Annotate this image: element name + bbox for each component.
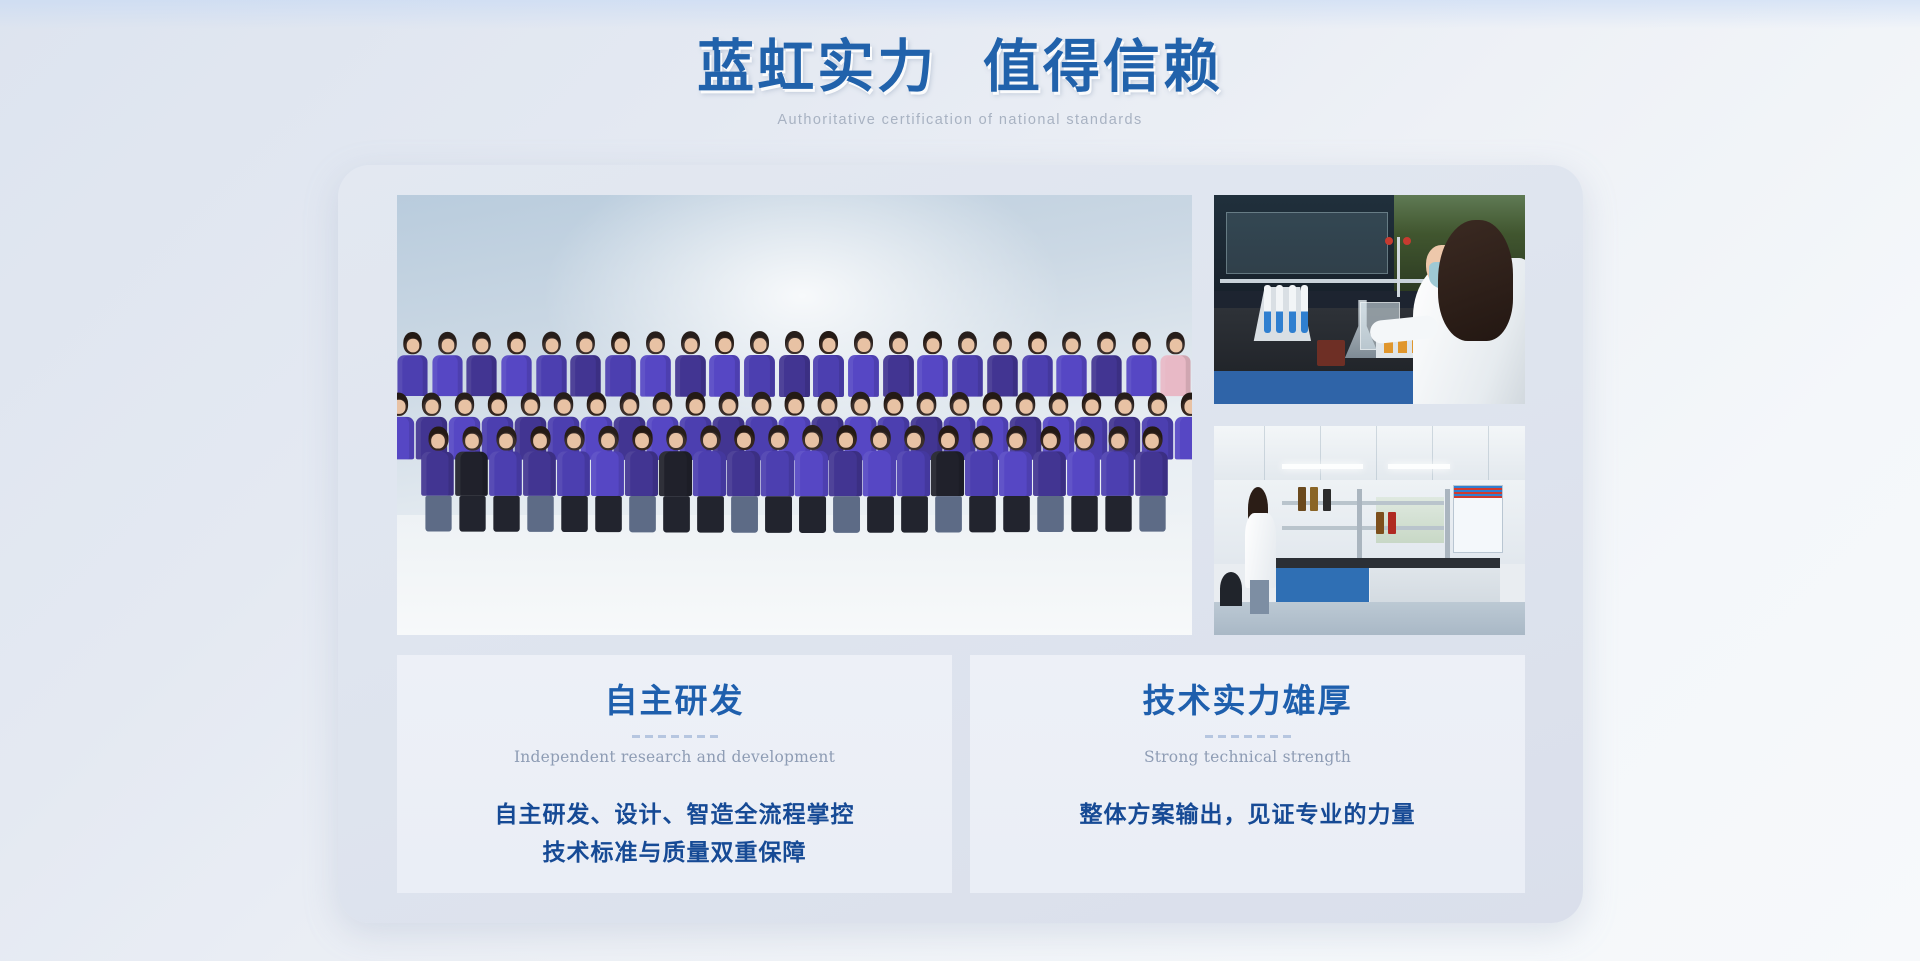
technician-lab-coat [1245,513,1276,588]
media-gallery [397,195,1525,635]
person-torso [455,452,488,496]
person-head [577,332,596,355]
person-face [975,433,989,448]
person [421,427,455,532]
person-legs [934,496,961,532]
person-face [545,339,558,353]
person-legs [1138,496,1164,532]
person-head [1005,426,1025,450]
person-face [684,338,697,352]
person-torso [760,451,793,496]
person-face [656,399,669,413]
person-head [631,426,651,451]
person-head [889,331,908,354]
person-head [563,426,583,450]
lab-glass-panel [1226,212,1388,275]
reagent-bottle [1323,489,1331,511]
person-face [567,433,581,448]
card-body-line: 整体方案输出，见证专业的力量 [1080,796,1416,834]
person-head [854,331,873,354]
people-row-front [397,429,1192,529]
person [1101,426,1135,532]
person-torso [998,451,1031,496]
person-torso [397,355,427,396]
person [1033,426,1067,532]
person-legs [560,496,587,532]
person-head [820,331,839,354]
person-head [716,331,735,354]
person-head [1098,332,1117,354]
person-head [529,426,549,450]
person-torso [571,355,601,396]
person-face [615,338,628,352]
person-head [1115,392,1134,415]
person [467,332,498,396]
card-english-subtitle: Strong technical strength [1144,748,1351,766]
pipette-icon [1289,285,1296,333]
person-legs [628,496,655,532]
dashed-divider [1205,735,1291,738]
person-legs [832,496,859,533]
person-face [788,399,802,414]
person-head [801,425,822,450]
person [571,332,602,397]
person-face [703,433,717,448]
person-face [854,399,867,414]
person-torso [964,451,997,496]
lab-technician [1245,485,1276,615]
person-head [785,331,804,354]
person-face [397,400,405,414]
person-legs [492,496,518,532]
person-face [737,433,751,448]
person-torso [1161,355,1191,396]
pipette-icon [1276,285,1283,333]
person [1091,332,1122,397]
person-head [1082,392,1101,415]
person-legs [866,496,893,533]
person-legs [424,496,450,532]
person [828,425,862,533]
person-face [1170,339,1183,353]
person [557,426,591,532]
page-subtitle: Authoritative certification of national … [0,112,1920,128]
person [998,426,1032,532]
person [794,425,829,533]
person-face [755,399,768,414]
person-face [770,433,784,448]
person-head [686,392,706,416]
person-torso [726,451,759,496]
person [489,426,523,532]
person [501,332,532,397]
person-face [1118,400,1131,414]
person-torso [896,451,929,496]
ceiling-grid-line [1432,426,1433,480]
person-head [983,392,1003,416]
person-torso [1126,355,1156,396]
person-face [1085,399,1098,413]
person-head [461,426,481,450]
person-head [884,392,904,416]
person-face [1184,400,1192,414]
person [455,426,489,531]
person-torso [952,355,983,397]
person-head [785,392,805,416]
page-header: 蓝虹实力 值得信赖 Authoritative certification of… [0,0,1920,128]
lab-bench-front [1214,371,1438,404]
person-head [1063,332,1082,355]
card-title: 技术实力雄厚 [1143,681,1353,721]
person-face [491,400,504,414]
person-legs [1036,496,1063,532]
person-torso [523,451,556,495]
person [883,331,914,397]
person-torso [744,355,775,397]
ceiling-grid-line [1320,426,1321,480]
person-face [1100,339,1113,353]
person [605,331,636,396]
poster-line [1454,492,1502,494]
person-head [917,392,937,416]
person-head [1049,392,1068,416]
person-legs [730,496,757,533]
person-torso [692,451,725,496]
reagent-bottle [1298,487,1306,511]
feature-card-technical-strength[interactable]: 技术实力雄厚 Strong technical strength 整体方案输出，… [970,655,1525,893]
person [397,332,428,396]
person-face [649,338,662,352]
person-head [699,425,719,450]
person-head [653,392,673,416]
group-people [397,297,1192,547]
person-face [1077,433,1091,448]
person-head [937,426,957,451]
person-torso [640,355,671,397]
person [536,332,567,397]
person-face [533,433,547,448]
person-head [750,331,769,354]
person-torso [1067,451,1100,495]
lab-technician-pipette-photo [1214,195,1525,404]
card-english-subtitle: Independent research and development [514,748,835,766]
person-face [753,338,766,352]
person-head [428,427,448,451]
card-body: 自主研发、设计、智造全流程掌控 技术标准与质量双重保障 [495,796,855,872]
poster-line [1454,496,1502,498]
person-torso [930,451,963,496]
person [987,331,1018,396]
person-head [455,393,474,416]
person-face [499,434,513,449]
person-head [488,392,507,415]
person-head [1141,426,1161,450]
person-head [851,392,871,416]
person [1135,426,1169,531]
person-face [804,433,818,448]
person-face [1052,399,1065,413]
person-head [767,425,787,450]
person-head [835,425,855,450]
person [432,332,463,396]
person [624,426,658,533]
person [1067,426,1101,532]
person-face [996,338,1009,352]
person-head [665,426,685,451]
person-face [635,433,649,448]
person-legs [662,496,689,532]
person-head [1016,392,1035,416]
person-face [722,399,735,413]
person-torso [1022,355,1052,396]
person [964,426,998,533]
person-head [1107,426,1127,450]
person-head [1073,426,1093,450]
person-legs [696,496,723,532]
person-head [719,392,739,416]
person-head [473,332,492,354]
person-legs [1070,496,1096,532]
person-legs [900,496,927,532]
person-face [838,433,852,448]
person-face [465,434,479,449]
person-face [941,433,955,448]
person-head [521,392,540,415]
person-face [887,399,900,413]
person-face [1009,433,1023,448]
person-torso [987,355,1018,396]
person-torso [590,451,623,496]
person-head [1028,332,1047,355]
person-torso [779,355,810,397]
person-torso [918,355,949,397]
person-face [821,399,835,414]
company-team-group-photo [397,195,1192,635]
reagent-bottle [1329,340,1345,366]
person-torso [658,451,691,496]
person-face [892,338,905,352]
person-torso [432,355,462,396]
person-head [752,392,772,416]
person [640,331,671,396]
person [813,331,845,397]
person-head [1039,426,1059,450]
person [862,425,896,532]
person-face [873,433,887,448]
person-head [1132,332,1151,354]
person-face [580,338,593,352]
content-panel: 自主研发 Independent research and developmen… [338,165,1583,923]
person-face [927,338,940,352]
person-face [425,400,438,414]
person-face [511,339,524,353]
person-head [597,426,617,450]
person-head [993,331,1012,354]
person-head [818,392,838,416]
person-face [1151,400,1164,414]
person [1022,332,1053,397]
person-head [587,392,606,416]
person-head [542,332,561,355]
person-face [1019,399,1032,413]
person-head [612,331,631,354]
person [590,426,624,532]
person [918,331,949,396]
laboratory-room-photo [1214,426,1525,635]
technician-hair [1438,220,1513,341]
person-torso [709,355,740,397]
person-face [907,433,921,448]
pipette-icon [1264,285,1271,333]
person-torso [557,451,590,496]
person-face [788,338,801,352]
person-torso [624,451,657,496]
person-torso [883,355,914,397]
person-head [404,332,422,354]
person-head [620,392,640,416]
person-torso [536,355,566,396]
person-face [1031,338,1044,352]
person-head [924,331,943,354]
person-face [689,399,702,413]
person-face [623,399,636,413]
person [709,331,740,397]
person-head [1167,332,1185,354]
person-torso [501,355,531,396]
person-torso [862,451,895,496]
side-photo-column [1214,195,1525,635]
lab-shelf-rail [1220,279,1425,283]
card-body-line: 自主研发、设计、智造全流程掌控 [495,796,855,834]
person-face [524,399,537,413]
person [896,425,930,532]
person-face [458,400,471,414]
person-torso [467,355,497,396]
person-torso [605,355,636,396]
person-torso [675,355,706,397]
person-head [1181,393,1192,416]
reagent-bottle [1310,487,1318,511]
person [692,425,726,532]
lab-ceiling [1214,426,1525,480]
person-face [669,433,683,448]
person-legs [526,496,552,532]
person [779,331,811,397]
person [523,426,557,532]
person-torso [421,452,454,496]
person-head [495,426,515,450]
person-legs [1104,496,1130,532]
ceiling-light [1282,464,1363,469]
person-legs [594,496,621,532]
person-torso [1135,452,1168,496]
person-face [719,338,732,352]
person-head [422,393,441,416]
person-head [681,331,700,354]
person-face [557,399,570,413]
person [1126,332,1157,396]
person-torso [794,451,827,496]
person-torso [1033,451,1066,496]
technician-jeans [1250,580,1269,614]
person-legs [798,496,825,533]
person-head [554,392,573,416]
person-face [962,338,975,352]
person-head [733,425,753,450]
feature-cards: 自主研发 Independent research and developmen… [397,655,1525,893]
ceiling-grid-line [1264,426,1265,480]
person [848,331,880,397]
person-face [953,399,966,413]
person-torso [848,355,879,397]
person-face [823,338,836,352]
safety-poster [1453,485,1503,554]
person-head [397,393,408,416]
person-face [986,399,999,413]
lab-retort-stand [1397,237,1400,297]
person-head [508,332,527,354]
person-face [406,339,419,353]
person [658,426,692,533]
fume-hood [1357,489,1450,564]
person-head [646,331,665,354]
lab-stool [1220,572,1242,605]
person-torso [1091,355,1121,396]
person [930,426,964,533]
person [760,425,794,533]
person-head [950,392,970,416]
person [1161,332,1192,396]
ceiling-grid-line [1376,426,1377,480]
person [726,425,760,532]
page-title: 蓝虹实力 值得信赖 [0,34,1920,100]
card-body-line: 技术标准与质量双重保障 [495,834,855,872]
person-legs [1002,496,1029,532]
ceiling-light [1388,464,1450,469]
pipette-icon [1301,285,1308,333]
person [952,331,983,396]
person-face [590,399,603,413]
person-legs [764,496,791,533]
person-face [1135,339,1148,353]
person-torso [828,451,861,496]
ceiling-grid-line [1488,426,1489,480]
person-face [920,399,933,413]
person [675,331,706,396]
person-torso [1101,452,1134,496]
person-legs [968,496,995,532]
people-row-back [397,331,1192,397]
person-face [476,339,489,353]
person-face [1043,433,1057,448]
person-face [1145,434,1159,449]
person [744,331,776,397]
poster-line [1454,488,1502,490]
person-torso [813,355,844,397]
person-head [959,331,978,354]
feature-card-independent-rd[interactable]: 自主研发 Independent research and developmen… [397,655,952,893]
person-face [857,338,870,352]
person-head [869,425,889,450]
person-face [1066,339,1079,353]
person [1057,332,1088,397]
person-head [1148,393,1167,416]
person-head [971,426,991,451]
person-face [1111,434,1125,449]
lab-bench-top [1270,558,1500,568]
person-face [441,339,454,353]
person-legs [458,496,484,532]
